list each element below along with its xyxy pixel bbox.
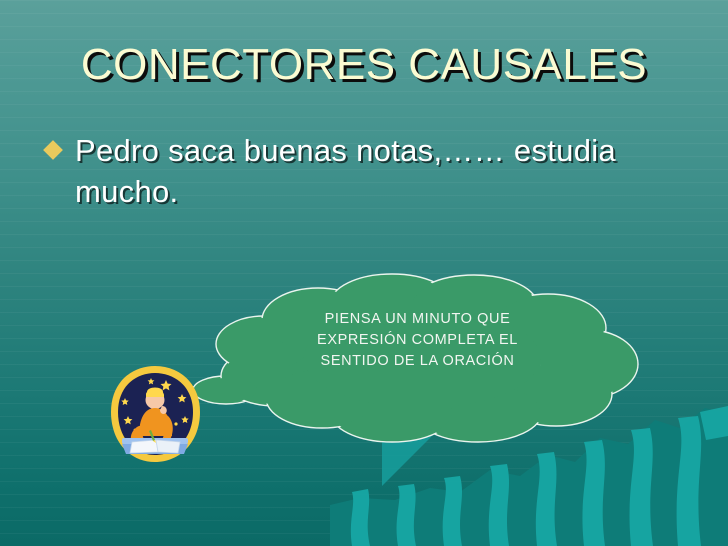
bullet-text: Pedro saca buenas notas,…… estudia mucho… xyxy=(75,133,616,209)
thought-cloud-text: PIENSA UN MINUTO QUE EXPRESIÓN COMPLETA … xyxy=(285,309,550,372)
slide-canvas: CONECTORES CAUSALES Pedro saca buenas no… xyxy=(0,0,728,546)
diamond-bullet-icon xyxy=(43,140,63,160)
paper-right xyxy=(156,440,180,453)
cloud-line-3: SENTIDO DE LA ORACIÓN xyxy=(285,351,550,372)
thought-cloud: PIENSA UN MINUTO QUE EXPRESIÓN COMPLETA … xyxy=(160,272,650,444)
paper-left xyxy=(130,440,158,453)
decor-corner-fleck xyxy=(700,406,728,440)
body-content: Pedro saca buenas notas,…… estudia mucho… xyxy=(40,130,690,212)
slide-title: CONECTORES CAUSALES xyxy=(0,40,728,90)
student-studying-at-night-icon xyxy=(108,364,202,464)
cloud-line-2: EXPRESIÓN COMPLETA EL xyxy=(285,330,550,351)
cloud-line-1: PIENSA UN MINUTO QUE xyxy=(285,309,550,330)
bullet-item: Pedro saca buenas notas,…… estudia mucho… xyxy=(40,130,690,212)
